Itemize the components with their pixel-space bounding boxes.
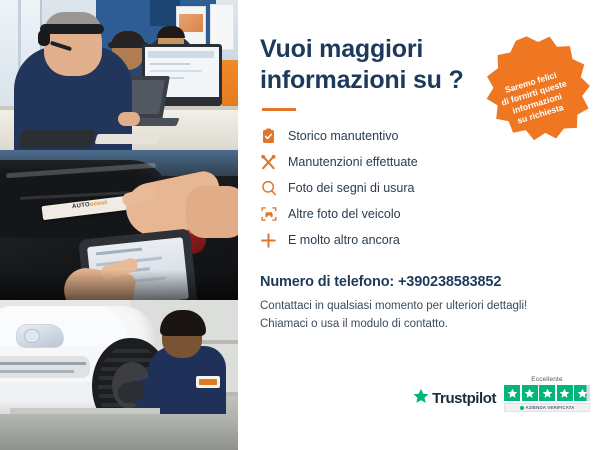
list-item-label: Storico manutentivo	[288, 129, 398, 143]
rating-star	[504, 385, 520, 401]
rating-star-partial	[574, 385, 590, 401]
mechanic-wheel-photo	[0, 300, 238, 450]
promo-banner: AUTOscout Vuoi maggiori infor	[0, 0, 600, 450]
trustpilot-logo: Trustpilot	[413, 388, 496, 412]
list-item: Altre foto del veicolo	[260, 201, 578, 227]
list-item-label: Manutenzioni effettuate	[288, 155, 418, 169]
list-item-label: E molto altro ancora	[288, 233, 400, 247]
trustpilot-rating-label: Eccellente	[531, 376, 563, 383]
trustpilot-badge[interactable]: Trustpilot Eccellente AZIENDA VERIFICATA	[413, 376, 590, 412]
list-item: Manutenzioni effettuate	[260, 149, 578, 175]
rating-star	[539, 385, 555, 401]
scan-car-icon	[260, 206, 277, 223]
contact-subtext: Contattaci in qualsiasi momento per ulte…	[260, 298, 578, 334]
photo-column: AUTOscout	[0, 0, 238, 450]
content-panel: Vuoi maggiori informazioni su ? Storico …	[238, 0, 600, 450]
clipboard-check-icon	[260, 128, 277, 145]
title-divider	[262, 108, 296, 111]
contact-subtext-line-1: Contattaci in qualsiasi momento per ulte…	[260, 300, 527, 312]
plus-icon	[260, 232, 277, 249]
verified-check-icon	[520, 406, 524, 410]
list-item: E molto altro ancora	[260, 227, 578, 253]
rating-star	[522, 385, 538, 401]
call-centre-photo	[0, 0, 238, 150]
verified-business-badge: AZIENDA VERIFICATA	[504, 403, 590, 412]
headline-line-1: Vuoi maggiori	[260, 35, 423, 63]
callout-badge: Saremo felici di fornirti queste informa…	[468, 27, 599, 153]
tools-cross-icon	[260, 154, 277, 171]
rating-star	[557, 385, 573, 401]
trustpilot-star-icon	[413, 388, 429, 409]
trustpilot-wordmark: Trustpilot	[432, 390, 496, 407]
contact-subtext-line-2: Chiamaci o usa il modulo di contatto.	[260, 318, 448, 330]
phone-number-line[interactable]: Numero di telefono: +390238583852	[260, 274, 578, 290]
callout-badge-text: Saremo felici di fornirti queste informa…	[487, 64, 584, 132]
verified-business-label: AZIENDA VERIFICATA	[526, 405, 575, 410]
list-item-label: Altre foto del veicolo	[288, 207, 401, 221]
tablet-inspection-photo: AUTOscout	[0, 150, 238, 300]
magnifier-icon	[260, 180, 277, 197]
page-title: Vuoi maggiori informazioni su ?	[260, 34, 470, 95]
list-item-label: Foto dei segni di usura	[288, 181, 414, 195]
trustpilot-stars	[504, 385, 590, 401]
list-item: Foto dei segni di usura	[260, 175, 578, 201]
headline-line-2: informazioni su ?	[260, 66, 464, 94]
trustpilot-rating: Eccellente AZIENDA VERIFICATA	[504, 376, 590, 412]
